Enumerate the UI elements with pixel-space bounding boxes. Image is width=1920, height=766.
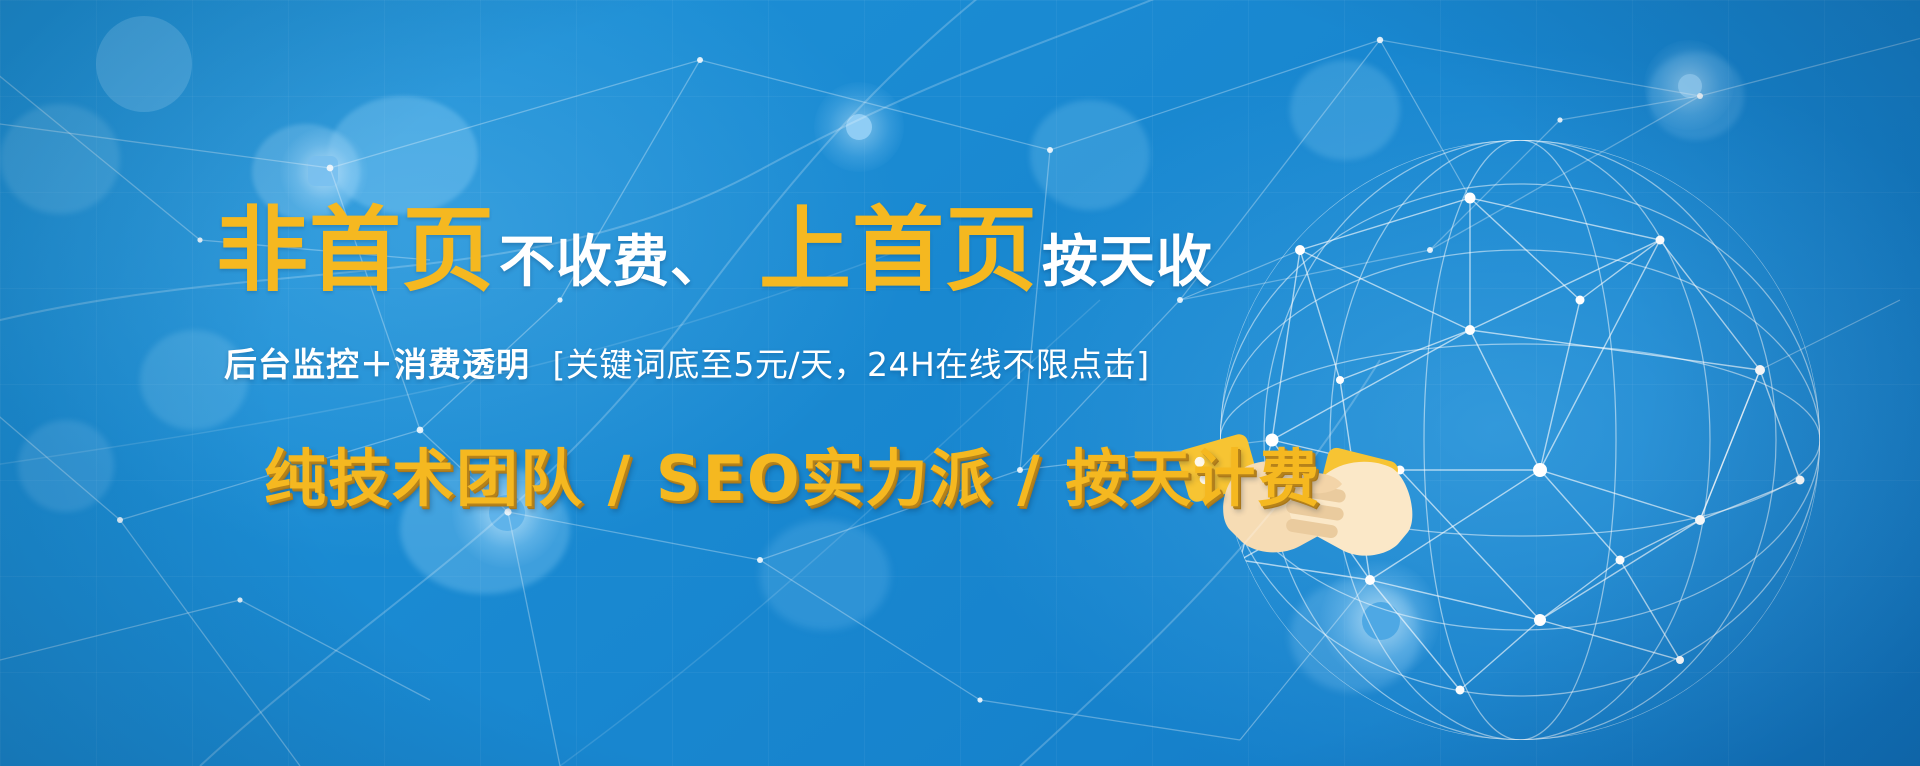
headline-part-4: 按天收: [1042, 235, 1213, 291]
headline-part-3: 上首页: [759, 205, 1038, 297]
seo-promo-banner: 非首页 不收费、 上首页 按天收 后台监控＋消费透明 [关键词底至5元/天，24…: [0, 0, 1920, 766]
banner-content: 非首页 不收费、 上首页 按天收 后台监控＋消费透明 [关键词底至5元/天，24…: [0, 0, 1920, 766]
tagline: 纯技术团队 / SEO实力派 / 按天计费: [264, 448, 1321, 510]
subline-left: 后台监控＋消费透明: [224, 345, 530, 384]
subline-right: [关键词底至5元/天，24H在线不限点击]: [553, 345, 1150, 384]
headline-part-2: 不收费、: [499, 235, 727, 291]
subline: 后台监控＋消费透明 [关键词底至5元/天，24H在线不限点击]: [224, 348, 1150, 381]
headline: 非首页 不收费、 上首页 按天收: [216, 205, 1219, 297]
headline-part-1: 非首页: [216, 205, 495, 297]
